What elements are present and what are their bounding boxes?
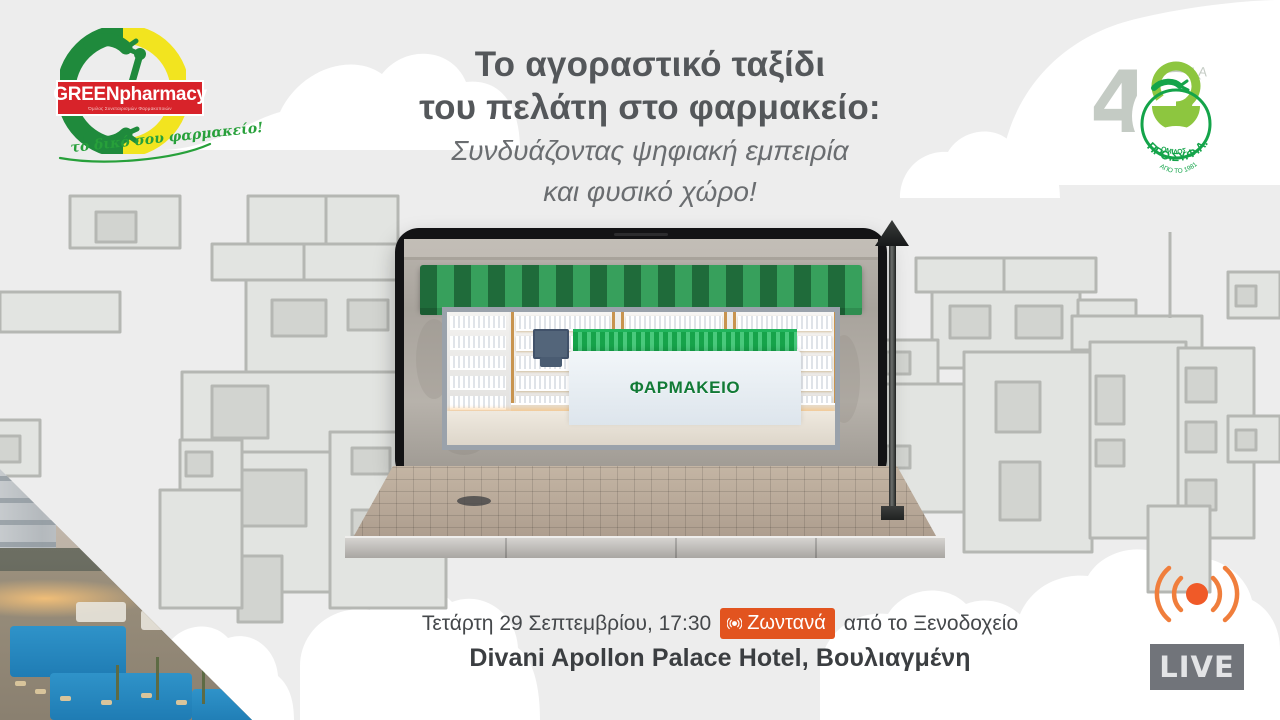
event-datetime-row: Τετάρτη 29 Σεπτεμβρίου, 17:30 Ζωντανά απ… xyxy=(340,608,1100,639)
subtitle-line-2: και φυσικό χώρο! xyxy=(340,174,960,210)
photo-canopy xyxy=(76,602,126,622)
subtitle-line-1: Συνδυάζοντας ψηφιακή εμπειρία xyxy=(340,133,960,169)
shop-window-frame: ΦΑΡΜΑΚΕΙΟ xyxy=(442,307,840,450)
event-venue: Divani Apollon Palace Hotel, Βουλιαγμένη xyxy=(340,644,1100,673)
manhole-cover xyxy=(457,496,491,506)
banner-stage: GREENpharmacy Όμιλος Συνεταιρισμών Φαρμα… xyxy=(0,0,1280,720)
counter-sign-text: ΦΑΡΜΑΚΕΙΟ xyxy=(630,378,741,398)
event-datetime: Τετάρτη 29 Σεπτεμβρίου, 17:30 xyxy=(422,610,711,637)
pharmacy-scene: ΦΑΡΜΑΚΕΙΟ xyxy=(345,228,945,558)
lamp-base xyxy=(881,506,904,520)
logo-word-green: GREEN xyxy=(53,84,119,105)
live-label-box: LIVE xyxy=(1150,644,1244,690)
green-pharmacy-logo: GREENpharmacy Όμιλος Συνεταιρισμών Φαρμα… xyxy=(34,28,214,168)
smartphone-frame: ΦΑΡΜΑΚΕΙΟ xyxy=(395,228,887,483)
live-label: LIVE xyxy=(1159,650,1235,684)
heading-block: Το αγοραστικό ταξίδι του πελάτη στο φαρμ… xyxy=(340,44,960,210)
pharmacy-counter: ΦΑΡΜΑΚΕΙΟ xyxy=(569,351,801,425)
green-striped-awning xyxy=(420,265,862,309)
live-badge: Ζωντανά xyxy=(720,608,835,639)
live-badge-label: Ζωντανά xyxy=(747,610,826,636)
lamp-head xyxy=(875,220,909,246)
live-widget: LIVE xyxy=(1144,558,1252,690)
event-from-text: από το Ξενοδοχείο xyxy=(844,610,1018,637)
curb xyxy=(345,536,945,558)
phone-screen: ΦΑΡΜΑΚΕΙΟ xyxy=(404,239,878,472)
pharmacy-interior: ΦΑΡΜΑΚΕΙΟ xyxy=(447,312,835,445)
counter-green-display xyxy=(573,329,797,353)
lamp-pole xyxy=(889,246,896,520)
broadcast-waves-icon xyxy=(1154,558,1240,630)
photo-pool xyxy=(10,626,126,677)
broadcast-icon xyxy=(727,616,742,631)
logo-tagline: το δικό σου φαρμακείο! xyxy=(44,120,219,166)
photo-pool xyxy=(50,673,191,720)
logo-word-pharmacy: pharmacy xyxy=(119,84,206,105)
green-pharmacy-wordmark: GREENpharmacy Όμιλος Συνεταιρισμών Φαρμα… xyxy=(56,80,204,116)
logo-subline: Όμιλος Συνεταιρισμών Φαρμακοποιών xyxy=(88,106,171,111)
street-lamp xyxy=(875,220,909,520)
anniversary-logo: 40 ΧΡΟΝΙΑ ΟΜΙΛΟΣ ΠΡΟ.ΣΥ.Φ.Α.Π.Ε. ΑΠΟ ΤΟ … xyxy=(1080,24,1240,184)
event-footer: Τετάρτη 29 Σεπτεμβρίου, 17:30 Ζωντανά απ… xyxy=(340,608,1100,673)
title-line-2: του πελάτη στο φαρμακείο: xyxy=(340,87,960,130)
counter-monitor xyxy=(533,329,569,359)
shelf-bay-left xyxy=(447,312,509,415)
title-line-1: Το αγοραστικό ταξίδι xyxy=(340,44,960,87)
